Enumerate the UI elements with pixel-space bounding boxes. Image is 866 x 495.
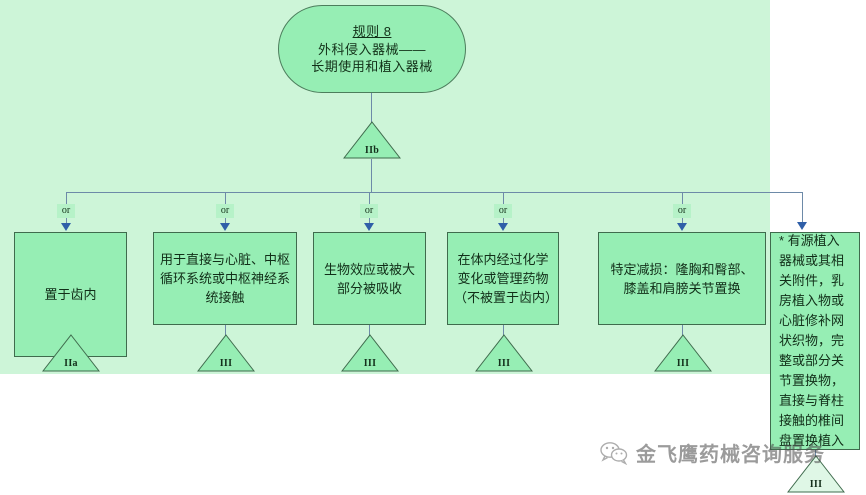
leaf-box-3-text: 生物效应或被大部分被吸收 (314, 260, 425, 298)
classification-label: III (197, 358, 255, 369)
leaf-box-2-text: 用于直接与心脏、中枢循环系统或中枢神经系统接触 (154, 250, 296, 307)
root-node-line-2: 外科侵入器械—— (318, 41, 426, 58)
arrow-head-5 (677, 223, 687, 231)
root-node-line-3: 长期使用和植入器械 (311, 58, 433, 75)
root-node-title: 规则 8 (353, 23, 392, 40)
connector-root-stem (371, 93, 372, 123)
leaf-box-3: 生物效应或被大部分被吸收 (313, 232, 426, 325)
root-node-rule-8: 规则 8 外科侵入器械—— 长期使用和植入器械 (278, 5, 466, 93)
arrow-head-1 (61, 223, 71, 231)
classification-triangle-2: III (197, 334, 255, 372)
leaf-box-5-text: 特定减损：隆胸和臀部、膝盖和肩膀关节置换 (599, 260, 765, 298)
watermark-text: 金飞鹰药械咨询服务 (636, 438, 825, 467)
connector-drop-6 (802, 192, 803, 224)
classification-label: IIa (42, 358, 100, 369)
connector-label-or-1: or (57, 204, 75, 218)
classification-label: III (341, 358, 399, 369)
leaf-box-4: 在体内经过化学变化或管理药物（不被置于齿内） (447, 232, 559, 325)
wechat-icon (600, 441, 628, 465)
connector-label-or-3: or (360, 204, 378, 218)
leaf-box-1-text: 置于齿内 (38, 285, 102, 304)
classification-triangle-3: III (341, 334, 399, 372)
classification-triangle-4: III (475, 334, 533, 372)
connector-drop-1 (66, 192, 67, 204)
connector-root-to-bus (371, 159, 372, 192)
leaf-box-5: 特定减损：隆胸和臀部、膝盖和肩膀关节置换 (598, 232, 766, 325)
connector-drop-4 (503, 192, 504, 204)
leaf-box-6: * 有源植入器械或其相关附件，乳房植入物或心脏修补网状织物，完整或部分关节置换物… (770, 232, 860, 450)
leaf-box-6-text: * 有源植入器械或其相关附件，乳房植入物或心脏修补网状织物，完整或部分关节置换物… (771, 231, 859, 451)
arrow-head-3 (364, 223, 374, 231)
classification-label: IIb (343, 145, 401, 156)
connector-drop-2 (225, 192, 226, 204)
wechat-icon-shape (600, 441, 628, 465)
connector-drop-3 (369, 192, 370, 204)
connector-label-or-2: or (216, 204, 234, 218)
connector-drop-5 (682, 192, 683, 204)
connector-horizontal-bus (66, 192, 802, 193)
classification-triangle-5: III (654, 334, 712, 372)
classification-label: III (475, 358, 533, 369)
arrow-head-4 (498, 223, 508, 231)
classification-triangle-1: IIa (42, 334, 100, 372)
watermark: 金飞鹰药械咨询服务 (600, 438, 825, 467)
connector-label-or-5: or (673, 204, 691, 218)
leaf-box-4-text: 在体内经过化学变化或管理药物（不被置于齿内） (448, 250, 558, 307)
classification-label: III (787, 479, 845, 490)
arrow-head-6 (797, 222, 807, 230)
arrow-head-2 (220, 223, 230, 231)
leaf-box-2: 用于直接与心脏、中枢循环系统或中枢神经系统接触 (153, 232, 297, 325)
diagram-canvas: 规则 8 外科侵入器械—— 长期使用和植入器械 IIb or 置于齿内 IIa … (0, 0, 866, 495)
classification-label: III (654, 358, 712, 369)
connector-label-or-4: or (494, 204, 512, 218)
classification-triangle-root: IIb (343, 121, 401, 159)
